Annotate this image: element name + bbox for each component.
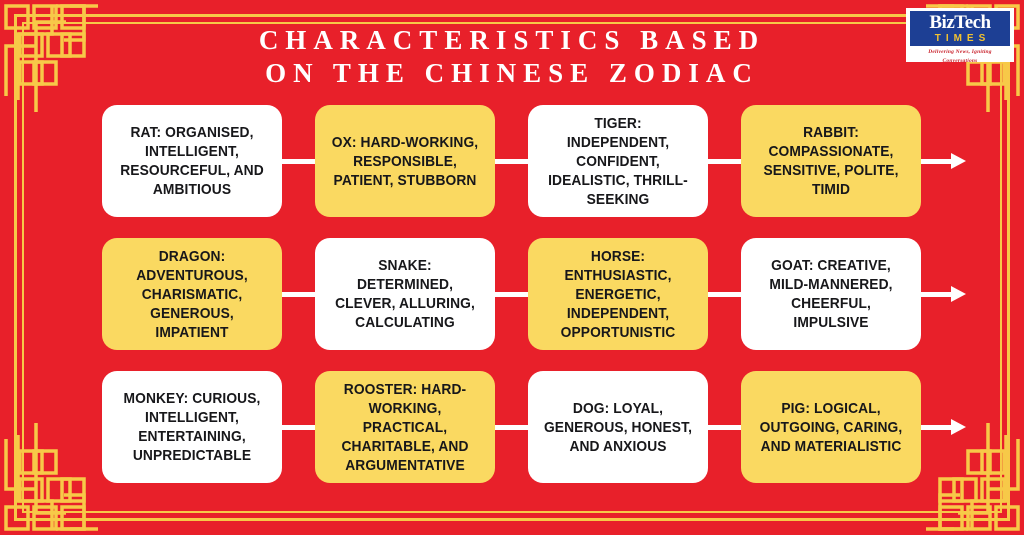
zodiac-node-label: PIG: LOGICAL, OUTGOING, CARING, AND MATE…	[756, 399, 905, 456]
zodiac-row-3: MONKEY: CURIOUS, INTELLIGENT, ENTERTAINI…	[0, 369, 1024, 485]
connector-line	[495, 159, 528, 164]
arrow-shaft	[921, 159, 955, 164]
connector-line	[708, 292, 741, 297]
zodiac-node-goat: GOAT: CREATIVE, MILD-MANNERED, CHEERFUL,…	[741, 238, 921, 350]
zodiac-node-label: ROOSTER: HARD-WORKING, PRACTICAL, CHARIT…	[330, 380, 479, 475]
arrow-head	[951, 153, 966, 169]
zodiac-node-label: RABBIT: COMPASSIONATE, SENSITIVE, POLITE…	[756, 123, 905, 199]
connector-line	[495, 292, 528, 297]
arrow-head	[951, 419, 966, 435]
connector-line	[708, 425, 741, 430]
zodiac-node-pig: PIG: LOGICAL, OUTGOING, CARING, AND MATE…	[741, 371, 921, 483]
page-title-line-1: Characteristics Based	[0, 24, 1024, 57]
page-title: Characteristics Based On The Chinese Zod…	[0, 24, 1024, 90]
connector-line	[708, 159, 741, 164]
zodiac-node-label: SNAKE: DETERMINED, CLEVER, ALLURING, CAL…	[330, 256, 479, 332]
zodiac-node-label: RAT: ORGANISED, INTELLIGENT, RESOURCEFUL…	[117, 123, 266, 199]
connector-line	[282, 425, 315, 430]
flow-arrow-icon	[921, 286, 969, 302]
arrow-shaft	[921, 292, 955, 297]
zodiac-row-2: DRAGON: ADVENTUROUS, CHARISMATIC, GENERO…	[0, 236, 1024, 352]
logo-tagline: Delivering News, Igniting Conversations	[910, 48, 1010, 66]
logo-badge: BizTech TIMES	[910, 11, 1010, 46]
zodiac-node-dog: DOG: LOYAL, GENEROUS, HONEST, AND ANXIOU…	[528, 371, 708, 483]
zodiac-node-label: DOG: LOYAL, GENEROUS, HONEST, AND ANXIOU…	[543, 399, 692, 456]
flow-arrow-icon	[921, 153, 969, 169]
flow-arrow-icon	[921, 419, 969, 435]
logo-wordmark: BizTech	[914, 13, 1006, 33]
zodiac-node-tiger: TIGER: INDEPENDENT, CONFIDENT, IDEALISTI…	[528, 105, 708, 217]
arrow-shaft	[921, 425, 955, 430]
zodiac-node-rooster: ROOSTER: HARD-WORKING, PRACTICAL, CHARIT…	[315, 371, 495, 483]
page-title-line-2: On The Chinese Zodiac	[0, 57, 1024, 90]
frame-border-top	[14, 14, 1010, 17]
zodiac-node-ox: OX: HARD-WORKING, RESPONSIBLE, PATIENT, …	[315, 105, 495, 217]
zodiac-node-label: HORSE: ENTHUSIASTIC, ENERGETIC, INDEPEND…	[543, 247, 692, 342]
zodiac-node-label: TIGER: INDEPENDENT, CONFIDENT, IDEALISTI…	[543, 114, 692, 209]
zodiac-node-rat: RAT: ORGANISED, INTELLIGENT, RESOURCEFUL…	[102, 105, 282, 217]
zodiac-node-rabbit: RABBIT: COMPASSIONATE, SENSITIVE, POLITE…	[741, 105, 921, 217]
arrow-head	[951, 286, 966, 302]
biztech-times-logo: BizTech TIMES Delivering News, Igniting …	[906, 8, 1014, 62]
zodiac-node-label: MONKEY: CURIOUS, INTELLIGENT, ENTERTAINI…	[117, 389, 266, 465]
zodiac-node-horse: HORSE: ENTHUSIASTIC, ENERGETIC, INDEPEND…	[528, 238, 708, 350]
zodiac-node-label: DRAGON: ADVENTUROUS, CHARISMATIC, GENERO…	[117, 247, 266, 342]
zodiac-node-label: OX: HARD-WORKING, RESPONSIBLE, PATIENT, …	[330, 133, 479, 190]
zodiac-row-1: RAT: ORGANISED, INTELLIGENT, RESOURCEFUL…	[0, 103, 1024, 219]
connector-line	[282, 292, 315, 297]
zodiac-infographic: Characteristics Based On The Chinese Zod…	[0, 0, 1024, 535]
connector-line	[282, 159, 315, 164]
zodiac-rows: RAT: ORGANISED, INTELLIGENT, RESOURCEFUL…	[0, 103, 1024, 502]
zodiac-node-monkey: MONKEY: CURIOUS, INTELLIGENT, ENTERTAINI…	[102, 371, 282, 483]
frame-border-bottom	[14, 518, 1010, 521]
logo-subtitle: TIMES	[914, 33, 1006, 45]
zodiac-node-label: GOAT: CREATIVE, MILD-MANNERED, CHEERFUL,…	[756, 256, 905, 332]
frame-border-bottom-inner	[22, 511, 1002, 513]
connector-line	[495, 425, 528, 430]
zodiac-node-snake: SNAKE: DETERMINED, CLEVER, ALLURING, CAL…	[315, 238, 495, 350]
zodiac-node-dragon: DRAGON: ADVENTUROUS, CHARISMATIC, GENERO…	[102, 238, 282, 350]
